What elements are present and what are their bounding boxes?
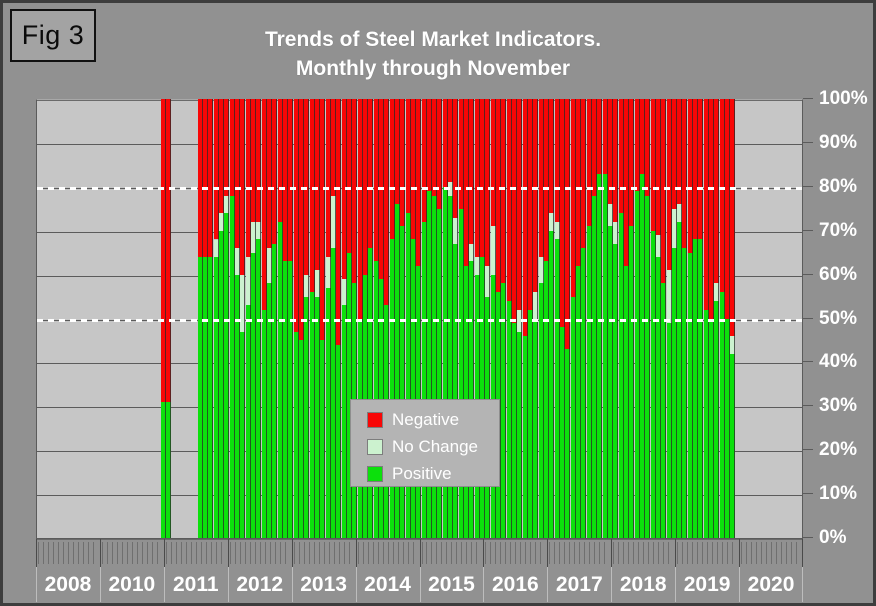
x-axis-minor-tick [589, 542, 590, 564]
figure-number-label: Fig 3 [22, 20, 85, 51]
x-label-divider [292, 567, 293, 602]
x-axis-minor-tick [221, 542, 222, 564]
y-tick-mark [803, 361, 813, 362]
x-axis-minor-tick [451, 542, 452, 564]
x-axis-minor-tick [127, 542, 128, 564]
y-axis-tick-label: 40% [819, 351, 857, 372]
x-axis-minor-tick [294, 542, 295, 564]
x-axis-minor-tick [638, 542, 639, 564]
y-tick-mark [803, 405, 813, 406]
x-axis-ticks [36, 538, 803, 567]
x-axis-minor-tick [93, 542, 94, 564]
x-axis-minor-tick [431, 542, 432, 564]
x-axis-minor-tick [540, 542, 541, 564]
x-axis-minor-tick [250, 542, 251, 564]
x-axis-minor-tick [707, 542, 708, 564]
x-axis-minor-tick [663, 542, 664, 564]
legend-swatch-negative [367, 412, 383, 428]
x-axis-label-2008: 2008 [36, 567, 100, 602]
x-axis-minor-tick [68, 542, 69, 564]
x-axis-minor-tick [285, 542, 286, 564]
y-axis-tick-0: 0% [803, 528, 876, 548]
x-axis-minor-tick [88, 542, 89, 564]
x-axis-minor-tick [78, 542, 79, 564]
y-axis-tick-label: 10% [819, 483, 857, 504]
x-axis-minor-tick [260, 542, 261, 564]
y-axis-tick-60: 60% [803, 265, 876, 285]
y-axis-tick-label: 20% [819, 439, 857, 460]
x-label-divider [611, 567, 612, 602]
x-axis-minor-tick [520, 542, 521, 564]
x-axis-minor-tick [727, 542, 728, 564]
x-axis-label-2015: 2015 [420, 567, 484, 602]
x-axis-minor-tick [756, 542, 757, 564]
y-axis-tick-90: 90% [803, 133, 876, 153]
legend-label-positive: Positive [392, 464, 452, 484]
x-axis-minor-tick [152, 542, 153, 564]
x-axis-year-divider [675, 539, 676, 568]
x-axis-minor-tick [363, 542, 364, 564]
x-axis-minor-tick [329, 542, 330, 564]
x-axis-minor-tick [441, 542, 442, 564]
x-axis-minor-tick [304, 542, 305, 564]
x-axis-minor-tick [490, 542, 491, 564]
x-axis-minor-tick [280, 542, 281, 564]
x-axis-minor-tick [398, 542, 399, 564]
x-axis-minor-tick [403, 542, 404, 564]
x-label-divider [228, 567, 229, 602]
figure-number-badge: Fig 3 [10, 9, 96, 62]
x-axis-minor-tick [299, 542, 300, 564]
legend-label-negative: Negative [392, 410, 459, 430]
x-axis-minor-tick [643, 542, 644, 564]
x-axis-minor-tick [658, 542, 659, 564]
x-axis-minor-tick [604, 542, 605, 564]
x-axis-minor-tick [240, 542, 241, 564]
x-axis-minor-tick [265, 542, 266, 564]
x-axis-minor-tick [142, 542, 143, 564]
x-axis-minor-tick [717, 542, 718, 564]
x-axis-minor-tick [48, 542, 49, 564]
x-axis-labels: 2008201020112012201320142015201620172018… [36, 567, 803, 602]
x-axis-minor-tick [314, 542, 315, 564]
legend-swatch-no-change [367, 439, 383, 455]
chart-legend: Negative No Change Positive [350, 399, 500, 487]
x-axis-label-2011: 2011 [164, 567, 228, 602]
y-axis-tick-label: 60% [819, 264, 857, 285]
x-axis-minor-tick [181, 542, 182, 564]
x-axis-minor-tick [216, 542, 217, 564]
x-label-divider [675, 567, 676, 602]
x-axis-minor-tick [530, 542, 531, 564]
x-axis-minor-tick [702, 542, 703, 564]
x-axis-label-2020: 2020 [739, 567, 803, 602]
x-axis-label-2018: 2018 [611, 567, 675, 602]
x-axis-minor-tick [746, 542, 747, 564]
x-axis-minor-tick [466, 542, 467, 564]
x-axis-minor-tick [339, 542, 340, 564]
title-line-1: Trends of Steel Market Indicators. [113, 25, 753, 54]
y-axis-tick-label: 70% [819, 220, 857, 241]
chart-title: Trends of Steel Market Indicators. Month… [113, 25, 753, 83]
y-axis-tick-80: 80% [803, 177, 876, 197]
x-label-divider [547, 567, 548, 602]
x-axis-minor-tick [579, 542, 580, 564]
x-axis-minor-tick [633, 542, 634, 564]
legend-item-no-change: No Change [367, 435, 499, 459]
x-axis-minor-tick [623, 542, 624, 564]
x-axis-minor-tick [206, 542, 207, 564]
x-axis-label-2017: 2017 [547, 567, 611, 602]
x-axis-minor-tick [393, 542, 394, 564]
y-axis-tick-label: 100% [819, 88, 868, 109]
x-axis-year-divider [802, 539, 803, 568]
x-axis-minor-tick [505, 542, 506, 564]
x-axis-minor-tick [436, 542, 437, 564]
x-axis-minor-tick [456, 542, 457, 564]
x-axis-minor-tick [344, 542, 345, 564]
x-axis-label-2010: 2010 [100, 567, 164, 602]
x-axis-minor-tick [358, 542, 359, 564]
x-axis-year-divider [611, 539, 612, 568]
x-axis-minor-tick [554, 542, 555, 564]
y-axis-tick-label: 30% [819, 395, 857, 416]
x-axis-minor-tick [559, 542, 560, 564]
x-axis-minor-tick [485, 542, 486, 564]
x-axis-year-divider [292, 539, 293, 568]
x-axis-minor-tick [255, 542, 256, 564]
x-axis-minor-tick [102, 542, 103, 564]
x-axis-label-2014: 2014 [356, 567, 420, 602]
x-axis-minor-tick [107, 542, 108, 564]
figure-frame: Fig 3 Trends of Steel Market Indicators.… [0, 0, 876, 606]
x-axis-minor-tick [628, 542, 629, 564]
x-axis-year-divider [164, 539, 165, 568]
x-axis-minor-tick [515, 542, 516, 564]
x-axis-year-divider [483, 539, 484, 568]
x-axis-minor-tick [43, 542, 44, 564]
x-axis-minor-tick [781, 542, 782, 564]
x-axis-minor-tick [132, 542, 133, 564]
y-axis-tick-20: 20% [803, 440, 876, 460]
x-axis-minor-tick [378, 542, 379, 564]
x-axis-minor-tick [186, 542, 187, 564]
y-axis-tick-label: 90% [819, 132, 857, 153]
x-axis-minor-tick [117, 542, 118, 564]
x-axis-label-2012: 2012 [228, 567, 292, 602]
x-axis-label-2013: 2013 [292, 567, 356, 602]
y-tick-mark [803, 186, 813, 187]
x-axis-minor-tick [751, 542, 752, 564]
legend-label-no-change: No Change [392, 437, 478, 457]
x-axis-minor-tick [653, 542, 654, 564]
x-axis-minor-tick [368, 542, 369, 564]
x-axis-minor-tick [166, 542, 167, 564]
x-label-divider [36, 567, 37, 602]
x-axis-year-divider [36, 539, 37, 568]
x-axis-minor-tick [83, 542, 84, 564]
x-axis-year-divider [739, 539, 740, 568]
y-axis-tick-10: 10% [803, 484, 876, 504]
x-axis-minor-tick [408, 542, 409, 564]
x-axis-minor-tick [211, 542, 212, 564]
x-axis-minor-tick [786, 542, 787, 564]
x-axis-minor-tick [584, 542, 585, 564]
x-axis-minor-tick [176, 542, 177, 564]
y-tick-mark [803, 318, 813, 319]
x-axis-minor-tick [334, 542, 335, 564]
x-axis-minor-tick [275, 542, 276, 564]
x-axis-minor-tick [73, 542, 74, 564]
legend-item-negative: Negative [367, 408, 499, 432]
x-axis-minor-tick [613, 542, 614, 564]
y-tick-mark [803, 449, 813, 450]
x-axis-year-divider [228, 539, 229, 568]
x-axis-minor-tick [147, 542, 148, 564]
x-axis-minor-tick [122, 542, 123, 564]
x-label-divider [802, 567, 803, 602]
x-label-divider [100, 567, 101, 602]
x-label-divider [420, 567, 421, 602]
y-tick-mark [803, 537, 813, 538]
x-label-divider [483, 567, 484, 602]
x-axis-minor-tick [564, 542, 565, 564]
x-axis-minor-tick [594, 542, 595, 564]
x-label-divider [739, 567, 740, 602]
x-axis-year-divider [100, 539, 101, 568]
reference-line-50 [37, 319, 802, 322]
x-axis-minor-tick [535, 542, 536, 564]
y-tick-mark [803, 274, 813, 275]
x-axis-minor-tick [692, 542, 693, 564]
y-axis-tick-70: 70% [803, 221, 876, 241]
x-axis-minor-tick [245, 542, 246, 564]
x-axis-minor-tick [599, 542, 600, 564]
y-axis: 0%10%20%30%40%50%60%70%80%90%100% [803, 99, 876, 538]
x-axis-minor-tick [722, 542, 723, 564]
x-axis-year-divider [547, 539, 548, 568]
x-axis-minor-tick [63, 542, 64, 564]
legend-item-positive: Positive [367, 462, 499, 486]
x-axis-minor-tick [697, 542, 698, 564]
y-axis-tick-label: 80% [819, 176, 857, 197]
y-axis-tick-30: 30% [803, 396, 876, 416]
x-axis-minor-tick [495, 542, 496, 564]
x-axis-minor-tick [687, 542, 688, 564]
x-axis-label-2016: 2016 [483, 567, 547, 602]
x-axis-minor-tick [58, 542, 59, 564]
y-axis-tick-label: 50% [819, 308, 857, 329]
y-axis-tick-50: 50% [803, 309, 876, 329]
y-axis-tick-40: 40% [803, 352, 876, 372]
x-axis-minor-tick [426, 542, 427, 564]
x-axis-minor-tick [171, 542, 172, 564]
x-axis-minor-tick [668, 542, 669, 564]
x-axis-minor-tick [373, 542, 374, 564]
x-axis-minor-tick [525, 542, 526, 564]
title-line-2: Monthly through November [113, 54, 753, 83]
x-axis-minor-tick [471, 542, 472, 564]
x-axis-minor-tick [732, 542, 733, 564]
x-axis-minor-tick [157, 542, 158, 564]
y-tick-mark [803, 142, 813, 143]
x-axis-minor-tick [349, 542, 350, 564]
x-axis-minor-tick [776, 542, 777, 564]
x-axis-minor-tick [309, 542, 310, 564]
x-axis-minor-tick [137, 542, 138, 564]
x-axis-minor-tick [461, 542, 462, 564]
x-axis-minor-tick [569, 542, 570, 564]
x-axis-year-divider [356, 539, 357, 568]
y-tick-mark [803, 493, 813, 494]
x-axis-year-divider [420, 539, 421, 568]
x-axis-minor-tick [766, 542, 767, 564]
x-axis-minor-tick [112, 542, 113, 564]
x-axis-minor-tick [196, 542, 197, 564]
x-axis-minor-tick [677, 542, 678, 564]
reference-line-80 [37, 187, 802, 190]
x-label-divider [164, 567, 165, 602]
x-axis-minor-tick [270, 542, 271, 564]
x-axis-minor-tick [682, 542, 683, 564]
x-axis-minor-tick [741, 542, 742, 564]
x-axis-minor-tick [771, 542, 772, 564]
y-axis-tick-100: 100% [803, 89, 876, 109]
x-axis-minor-tick [574, 542, 575, 564]
x-axis-minor-tick [388, 542, 389, 564]
x-axis-minor-tick [618, 542, 619, 564]
x-axis-minor-tick [235, 542, 236, 564]
x-axis: 2008201020112012201320142015201620172018… [36, 538, 803, 602]
y-axis-tick-label: 0% [819, 527, 846, 548]
x-axis-minor-tick [383, 542, 384, 564]
x-axis-minor-tick [53, 542, 54, 564]
x-label-divider [356, 567, 357, 602]
x-axis-minor-tick [510, 542, 511, 564]
x-axis-minor-tick [500, 542, 501, 564]
x-axis-minor-tick [796, 542, 797, 564]
x-axis-minor-tick [712, 542, 713, 564]
x-axis-minor-tick [549, 542, 550, 564]
y-tick-mark [803, 98, 813, 99]
x-axis-minor-tick [230, 542, 231, 564]
x-axis-label-2019: 2019 [675, 567, 739, 602]
x-axis-minor-tick [38, 542, 39, 564]
x-axis-minor-tick [761, 542, 762, 564]
y-tick-mark [803, 230, 813, 231]
x-axis-minor-tick [201, 542, 202, 564]
x-axis-minor-tick [191, 542, 192, 564]
x-axis-minor-tick [324, 542, 325, 564]
x-axis-minor-tick [648, 542, 649, 564]
x-axis-minor-tick [791, 542, 792, 564]
x-axis-minor-tick [319, 542, 320, 564]
x-axis-minor-tick [446, 542, 447, 564]
x-axis-minor-tick [413, 542, 414, 564]
x-axis-minor-tick [422, 542, 423, 564]
x-axis-minor-tick [476, 542, 477, 564]
legend-swatch-positive [367, 466, 383, 482]
